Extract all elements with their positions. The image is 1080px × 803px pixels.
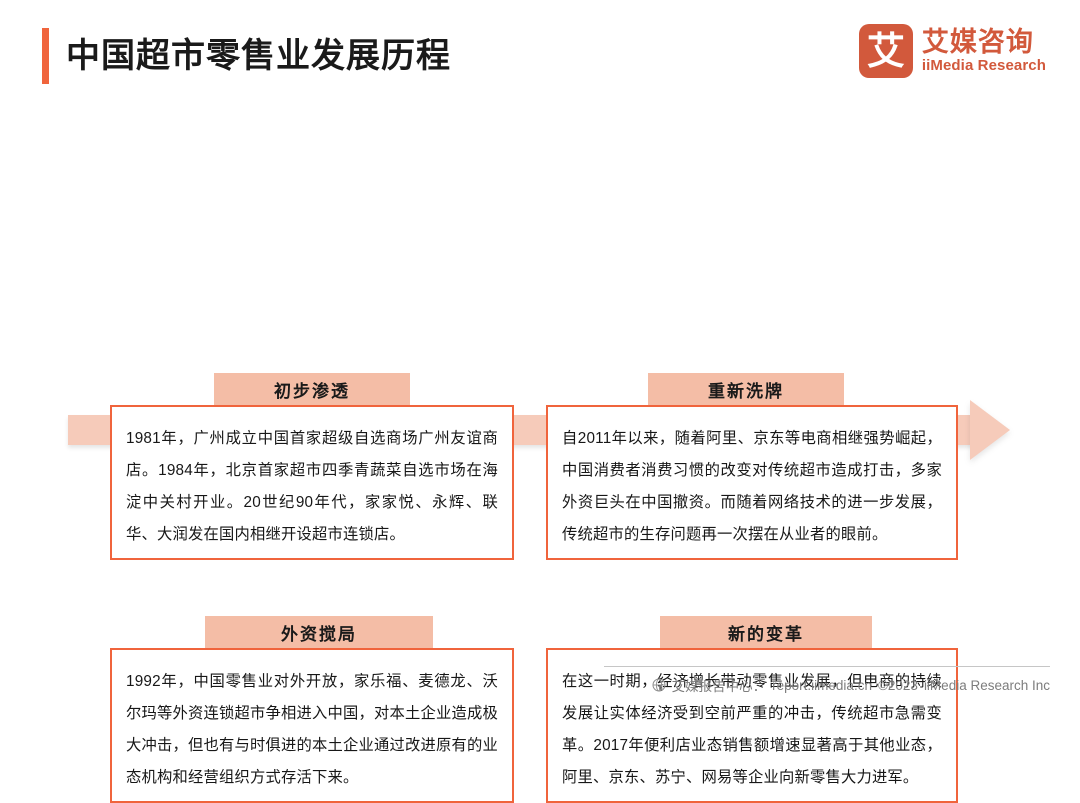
stage-card-3: 自2011年以来，随着阿里、京东等电商相继强势崛起，中国消费者消费习惯的改变对传… xyxy=(546,405,958,560)
footer-company: iiMedia Research Inc xyxy=(924,678,1050,693)
page-footer: 艾媒报告中心： report.iimedia.cn ©2023 iiMedia … xyxy=(0,666,1080,702)
brand-text: 艾媒咨询 iiMedia Research xyxy=(922,27,1046,75)
globe-icon xyxy=(652,678,666,692)
stage-label-2: 外资搅局 xyxy=(205,616,433,648)
footer-divider xyxy=(604,666,1050,667)
brand-name-en: iiMedia Research xyxy=(922,57,1046,75)
stage-body-3: 自2011年以来，随着阿里、京东等电商相继强势崛起，中国消费者消费习惯的改变对传… xyxy=(562,423,942,551)
page-header: 中国超市零售业发展历程 艾 艾媒咨询 iiMedia Research xyxy=(0,0,1080,110)
stage-label-1: 初步渗透 xyxy=(214,373,410,405)
stage-body-1: 1981年，广州成立中国首家超级自选商场广州友谊商店。1984年，北京首家超市四… xyxy=(126,423,498,551)
stage-label-3: 重新洗牌 xyxy=(648,373,844,405)
title-accent-bar xyxy=(42,28,49,84)
iimedia-logo-icon: 艾 xyxy=(859,24,913,78)
brand-logo: 艾 艾媒咨询 iiMedia Research xyxy=(859,24,1046,78)
timeline-diagram: 初步渗透 1981年，广州成立中国首家超级自选商场广州友谊商店。1984年，北京… xyxy=(0,180,1080,640)
page-title: 中国超市零售业发展历程 xyxy=(66,30,451,82)
brand-name-cn: 艾媒咨询 xyxy=(922,27,1046,57)
footer-site-url[interactable]: report.iimedia.cn xyxy=(772,678,872,693)
stage-card-1: 1981年，广州成立中国首家超级自选商场广州友谊商店。1984年，北京首家超市四… xyxy=(110,405,514,560)
stage-label-4: 新的变革 xyxy=(660,616,872,648)
footer-copyright: ©2023 xyxy=(878,678,918,693)
footer-site-label: 艾媒报告中心： xyxy=(672,675,767,695)
footer-content: 艾媒报告中心： report.iimedia.cn ©2023 iiMedia … xyxy=(652,675,1050,695)
